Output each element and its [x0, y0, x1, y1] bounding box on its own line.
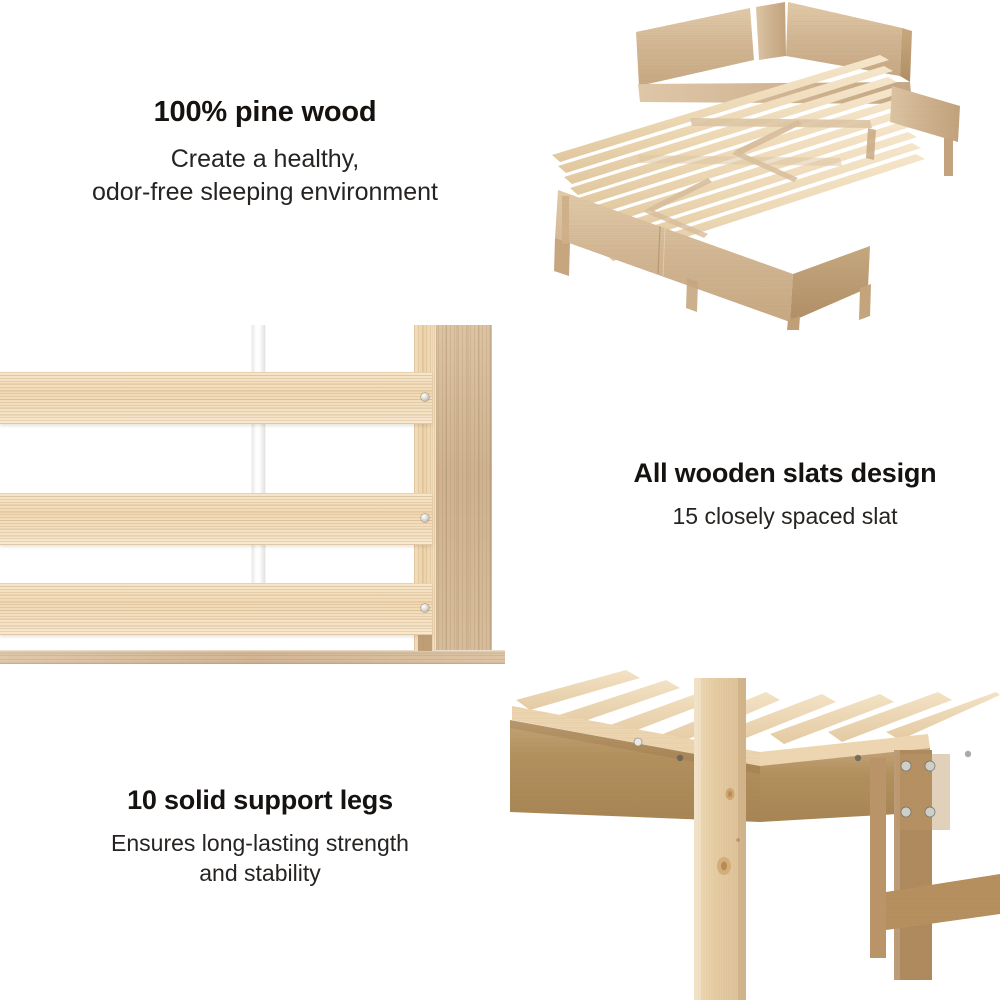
feature-block-slats-design: All wooden slats design 15 closely space… — [600, 458, 970, 532]
feature-subtext-line-1: Ensures long-lasting strength — [111, 830, 409, 856]
feature-subtext-line-1: Create a healthy, — [171, 145, 360, 173]
feature-subtext-line-2: odor-free sleeping environment — [92, 178, 438, 206]
feature-block-support-legs: 10 solid support legs Ensures long-lasti… — [50, 785, 470, 889]
bed-side-rail — [434, 325, 492, 655]
slat-screw — [421, 604, 429, 612]
bed-slat — [0, 372, 432, 424]
feature-heading-support-legs: 10 solid support legs — [50, 785, 470, 816]
feature-heading-pine-wood: 100% pine wood — [40, 96, 490, 129]
feature-subtext-line-1: 15 closely spaced slat — [672, 503, 897, 529]
feature-block-pine-wood: 100% pine wood Create a healthy, odor-fr… — [40, 96, 490, 208]
feature-subtext-support-legs: Ensures long-lasting strength and stabil… — [50, 829, 470, 889]
feature-subtext-slats-design: 15 closely spaced slat — [600, 502, 970, 532]
feature-subtext-line-2: and stability — [199, 860, 320, 886]
slat-screw — [421, 514, 429, 522]
product-photo-full-bed-frame — [540, 0, 1000, 330]
bed-frame-illustration — [540, 0, 1000, 330]
rail-joint-notch — [418, 635, 432, 651]
product-photo-support-leg-closeup — [498, 662, 1000, 1000]
product-photo-slat-closeup — [0, 325, 505, 667]
slat-screw — [421, 393, 429, 401]
feature-heading-slats-design: All wooden slats design — [600, 458, 970, 489]
support-leg-illustration — [498, 662, 1000, 1000]
bed-slat — [0, 583, 432, 635]
bed-slat — [0, 493, 432, 545]
feature-subtext-pine-wood: Create a healthy, odor-free sleeping env… — [40, 143, 490, 208]
infographic-canvas: 100% pine wood Create a healthy, odor-fr… — [0, 0, 1000, 1000]
slat-connector-tape — [252, 325, 265, 625]
